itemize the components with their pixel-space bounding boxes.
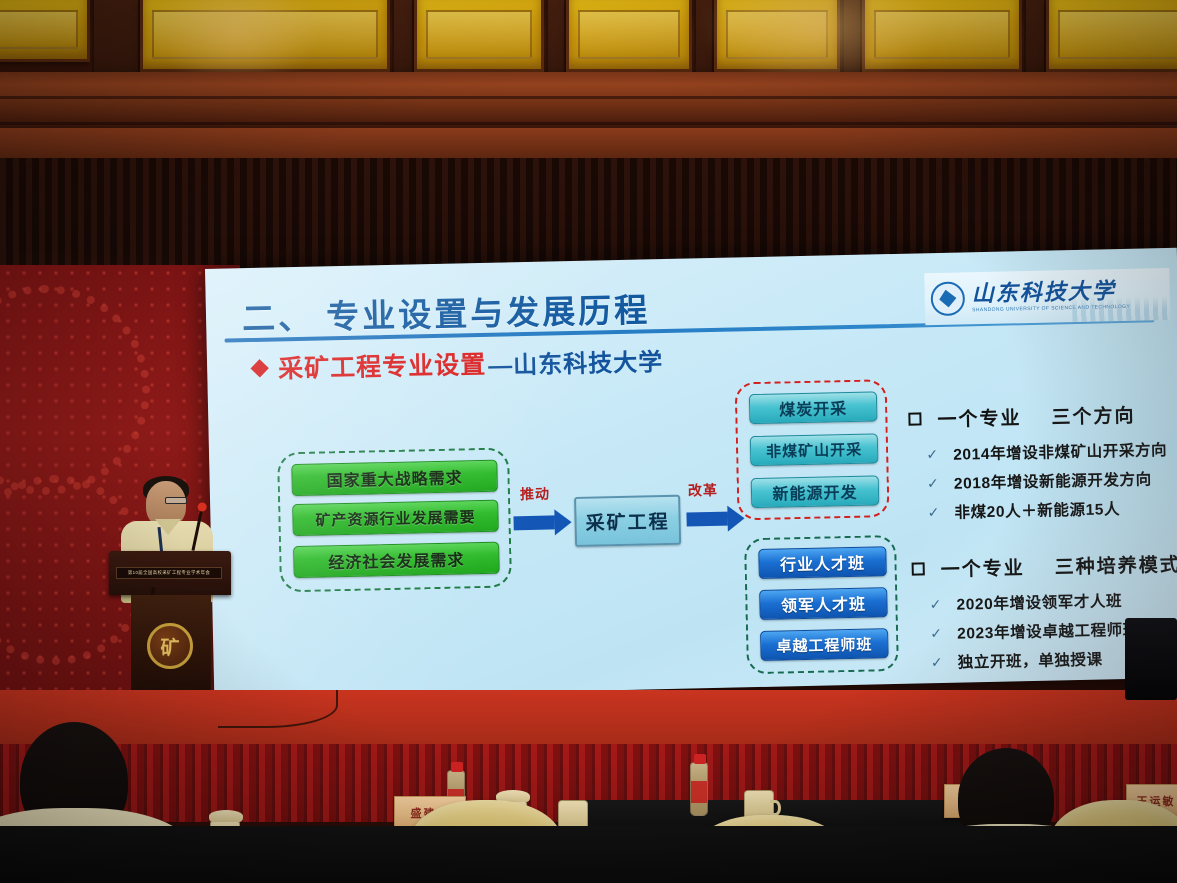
bullet-text: 2023年增设卓越工程师班 (957, 618, 1139, 644)
campus-skyline-icon (1072, 296, 1169, 322)
bullet-item: ✓ 2020年增设领军才人班 (928, 589, 1138, 616)
driver-box: 国家重大战略需求 (291, 460, 498, 496)
check-icon: ✓ (926, 475, 940, 492)
diamond-bullet-icon (250, 359, 268, 377)
block-bullet-list: ✓ 2014年增设非煤矿山开采方向 ✓ 2018年增设新能源开发方向 ✓ 非煤2… (925, 438, 1169, 523)
block-heading: 一个专业 三个方向 (908, 401, 1136, 433)
block-heading: 一个专业 三种培养模式 (911, 550, 1177, 583)
check-icon: ✓ (925, 446, 939, 463)
bullet-item: ✓ 非煤20人＋新能源15人 (926, 496, 1168, 523)
university-logo: 山东科技大学 SHANDONG UNIVERSITY OF SCIENCE AN… (924, 268, 1170, 325)
directions-group: 煤炭开采 非煤矿山开采 新能源开发 (735, 379, 890, 520)
podium-top: 第10届全国高校采矿工程专业学术年会 (109, 551, 231, 595)
slide-subtitle: 采矿工程专业设置 —山东科技大学 (253, 341, 664, 386)
bullet-text: 2018年增设新能源开发方向 (954, 467, 1152, 493)
ceiling-gold-panel (414, 0, 544, 72)
direction-box: 煤炭开采 (749, 391, 878, 424)
subtitle-main: 采矿工程专业设置 (278, 345, 487, 386)
check-icon: ✓ (929, 624, 943, 641)
bullet-item: ✓ 独立开班，单独授课 (930, 647, 1140, 674)
bullet-text: 2014年增设非煤矿山开采方向 (953, 438, 1167, 465)
cornice-groove (0, 96, 1177, 99)
bullet-text: 非煤20人＋新能源15人 (954, 497, 1120, 523)
speaker-glasses (165, 497, 187, 504)
subtitle-suffix: —山东科技大学 (488, 342, 664, 381)
wall-cornice (0, 72, 1177, 128)
presentation-photo-scene: 二、 专业设置与发展历程 山东科技大学 SHANDONG UNIVERSITY … (0, 0, 1177, 883)
wall-cornice-lower (0, 128, 1177, 162)
training-class-box: 行业人才班 (758, 546, 887, 579)
foreground-table (0, 826, 1177, 883)
core-major-box: 采矿工程 (574, 495, 681, 547)
arrow-left-label: 推动 (520, 484, 550, 505)
bullet-item: ✓ 2018年增设新能源开发方向 (926, 467, 1168, 494)
training-classes-group: 行业人才班 领军人才班 卓越工程师班 (744, 535, 899, 674)
university-seal-icon (930, 281, 965, 316)
bullet-text: 2020年增设领军才人班 (956, 589, 1122, 615)
bullet-text: 独立开班，单独授课 (958, 648, 1103, 673)
block-bullet-list: ✓ 2020年增设领军才人班 ✓ 2023年增设卓越工程师班 ✓ 独立开班，单独… (928, 589, 1139, 674)
arrow-right (686, 505, 745, 532)
check-icon: ✓ (928, 595, 942, 612)
podium-emblem-icon: 矿 (147, 623, 193, 669)
stage-monitor (1125, 618, 1177, 700)
check-icon: ✓ (926, 504, 940, 521)
bullet-item: ✓ 2014年增设非煤矿山开采方向 (925, 438, 1167, 465)
block-heading-right: 三种培养模式 (1054, 550, 1177, 580)
arrow-left (513, 509, 572, 536)
block-heading-right: 三个方向 (1051, 401, 1136, 430)
training-class-box: 卓越工程师班 (760, 628, 889, 661)
direction-box: 非煤矿山开采 (750, 433, 879, 466)
square-bullet-icon (912, 562, 925, 575)
stage-floor (0, 690, 1177, 752)
check-icon: ✓ (930, 653, 944, 670)
driver-box: 经济社会发展需求 (293, 542, 500, 578)
podium-banner-text: 第10届全国高校采矿工程专业学术年会 (116, 567, 222, 579)
block-heading-left: 一个专业 (937, 403, 1022, 432)
arrow-right-label: 改革 (688, 480, 718, 501)
drivers-group: 国家重大战略需求 矿产资源行业发展需要 经济社会发展需求 (277, 447, 512, 592)
podium: 第10届全国高校采矿工程专业学术年会 矿 (109, 551, 231, 701)
cornice-groove (0, 122, 1177, 125)
training-class-box: 领军人才班 (759, 587, 888, 620)
ceiling-gold-panel (0, 0, 90, 62)
ceiling-gold-panel (1046, 0, 1177, 72)
direction-box: 新能源开发 (751, 475, 880, 508)
slide-canvas: 二、 专业设置与发展历程 山东科技大学 SHANDONG UNIVERSITY … (205, 248, 1177, 699)
bullet-item: ✓ 2023年增设卓越工程师班 (929, 618, 1139, 645)
ceiling-gold-panel (714, 0, 840, 72)
projection-screen: 二、 专业设置与发展历程 山东科技大学 SHANDONG UNIVERSITY … (205, 248, 1177, 699)
ceiling-gold-panel (140, 0, 390, 72)
ceiling-gold-panel (862, 0, 1022, 72)
block-heading-left: 一个专业 (940, 553, 1025, 582)
water-bottle (690, 762, 708, 816)
square-bullet-icon (908, 412, 921, 425)
driver-box: 矿产资源行业发展需要 (292, 500, 499, 536)
ceiling-gold-panel (566, 0, 692, 72)
